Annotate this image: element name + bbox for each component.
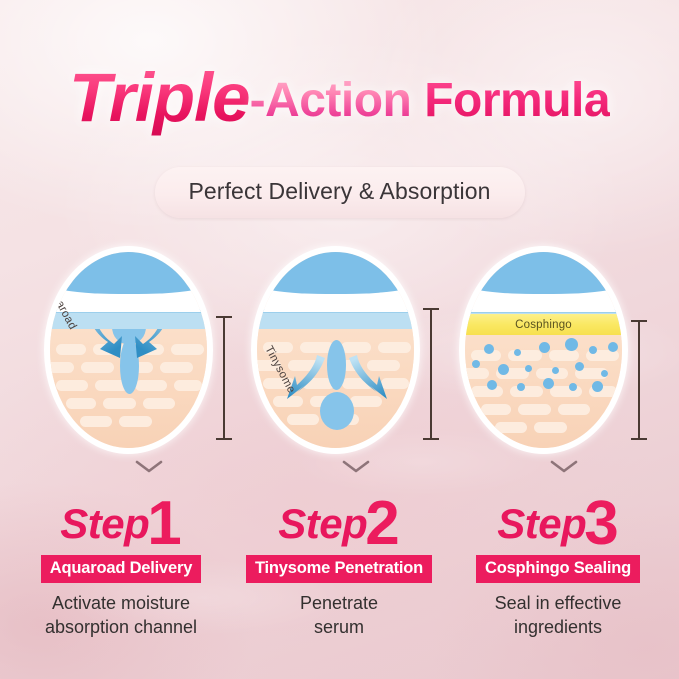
diagram-row: Aquaroad (0, 252, 679, 452)
step-1-description: Activate moisture absorption channel (8, 592, 234, 640)
serum-dome (465, 252, 622, 294)
page-title: Triple-Action Formula (0, 58, 679, 137)
step-3-heading: Step3 (445, 487, 671, 549)
step-1-badge: Aquaroad Delivery (41, 555, 201, 583)
step-3-desc-line2: ingredients (445, 616, 671, 640)
title-part-triple: Triple (69, 59, 250, 136)
skin-cross-section-1: Aquaroad (50, 252, 207, 448)
cosphingo-seal-band: Cosphingo (465, 314, 622, 335)
step-3-badge: Cosphingo Sealing (476, 555, 640, 583)
subtitle-banner: Perfect Delivery & Absorption (154, 167, 524, 218)
step-2-word: Step (278, 500, 367, 547)
step-1: Step1 Aquaroad Delivery Activate moistur… (8, 487, 234, 640)
step-3: Step3 Cosphingo Sealing Seal in effectiv… (445, 487, 671, 640)
step-2-desc-line1: Penetrate (226, 592, 452, 616)
step-2: Step2 Tinysome Penetration Penetrate ser… (226, 487, 452, 640)
tinysome-diagram: Tinysome (229, 252, 449, 452)
band-label-cosphingo: Cosphingo (465, 319, 622, 331)
aquaroad-diagram: Aquaroad (22, 252, 242, 452)
serum-dome (50, 252, 207, 294)
step-2-desc-line2: serum (226, 616, 452, 640)
skin-cross-section-2: Tinysome (257, 252, 414, 448)
step-2-badge: Tinysome Penetration (246, 555, 432, 583)
step-1-heading: Step1 (8, 487, 234, 549)
step-1-desc-line1: Activate moisture (8, 592, 234, 616)
chevron-down-icon (135, 460, 163, 473)
cosphingo-diagram: Cosphingo (437, 252, 657, 452)
step-2-number: 2 (365, 489, 397, 558)
step-3-number: 3 (584, 489, 616, 558)
serum-dome (257, 252, 414, 294)
chevron-down-icon (342, 460, 370, 473)
chevron-down-icon (550, 460, 578, 473)
step-3-word: Step (497, 500, 586, 547)
page-root: Triple-Action Formula Perfect Delivery &… (0, 0, 679, 679)
title-part-formula: Formula (411, 74, 610, 127)
step-1-number: 1 (147, 489, 179, 558)
step-2-description: Penetrate serum (226, 592, 452, 640)
step-3-desc-line1: Seal in effective (445, 592, 671, 616)
skin-cross-section-3: Cosphingo (465, 252, 622, 448)
title-part-action: -Action (250, 74, 412, 127)
step-1-word: Step (60, 500, 149, 547)
depth-measure-icon (631, 320, 647, 440)
step-1-desc-line2: absorption channel (8, 616, 234, 640)
steps-row: Step1 Aquaroad Delivery Activate moistur… (0, 487, 679, 647)
step-2-heading: Step2 (226, 487, 452, 549)
step-3-description: Seal in effective ingredients (445, 592, 671, 640)
